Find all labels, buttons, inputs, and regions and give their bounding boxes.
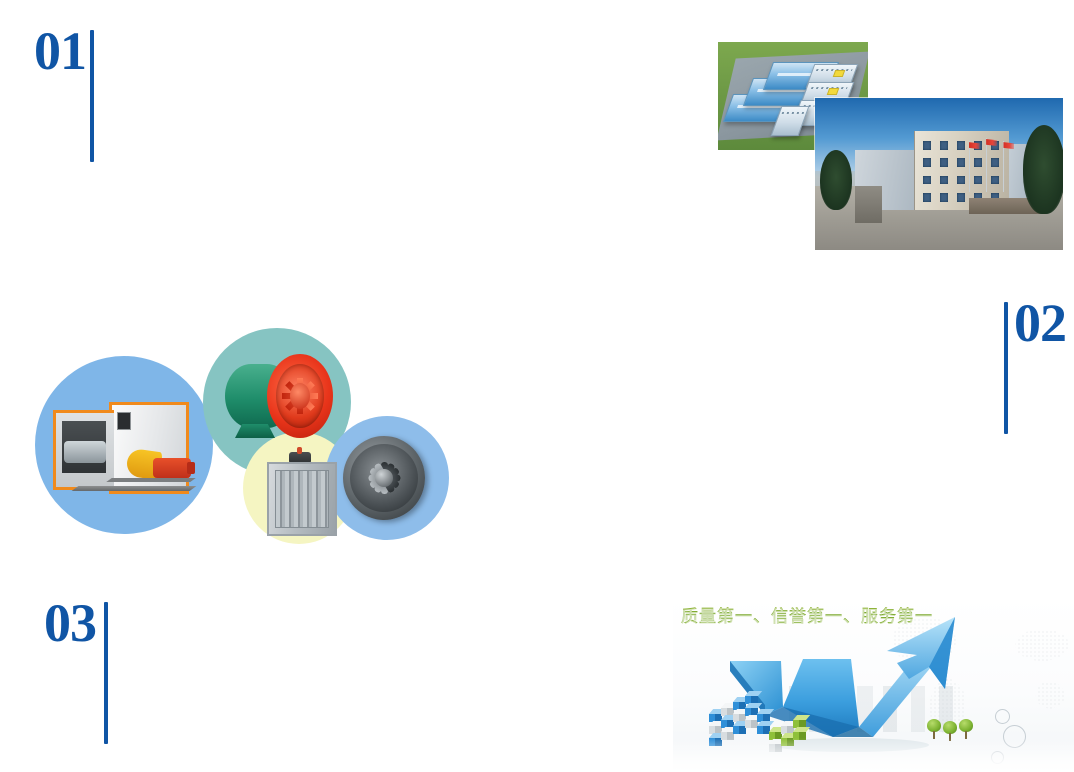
flagpole-2 [986,138,987,193]
impeller-hub [375,469,393,487]
electric-motor [153,458,191,478]
section-rule-02 [1004,302,1008,434]
cabinet-front-panel [53,410,114,490]
product-collage [35,328,417,548]
section-rule-01 [90,30,94,162]
section-rule-03 [104,602,108,744]
growth-arrow-banner: 质量第一、信誉第一、服务第一 [673,597,1074,772]
bubble-small [995,709,1010,724]
blue-cube-cluster [709,687,775,745]
impeller-blade-disc [350,444,418,512]
fire-damper [267,452,333,534]
control-panel [117,412,131,430]
damper-blades [275,470,329,528]
impeller-shroud [343,436,425,520]
section-marker-03: 03 [44,598,108,744]
fan-impeller-red [267,354,333,438]
fan-wheel [64,441,106,463]
section-number-01: 01 [34,26,86,76]
page-root: 01 [0,0,1074,772]
section-marker-02: 02 [1004,298,1066,434]
base-rail-front [72,486,197,491]
base-rail-back [106,478,196,482]
damper-frame [267,462,337,536]
section-number-03: 03 [44,598,96,648]
metal-impeller [343,436,435,522]
tree-icon-1 [927,719,941,739]
section-marker-01: 01 [34,26,94,162]
banner-slogan: 质量第一、信誉第一、服务第一 [681,602,933,627]
tree-left [820,150,852,211]
axial-flow-fan [225,350,337,454]
banner-reflection-fade [673,738,1074,772]
fan-hub [290,383,310,409]
gatehouse [855,186,882,222]
tree-right [1023,125,1063,213]
cabinet-centrifugal-fan-unit [53,400,203,508]
office-building-photo [815,98,1063,250]
flagpole-3 [1003,141,1004,193]
tree-icon-3 [959,719,973,739]
flagpole-1 [969,141,970,193]
section-number-02: 02 [1014,298,1066,348]
